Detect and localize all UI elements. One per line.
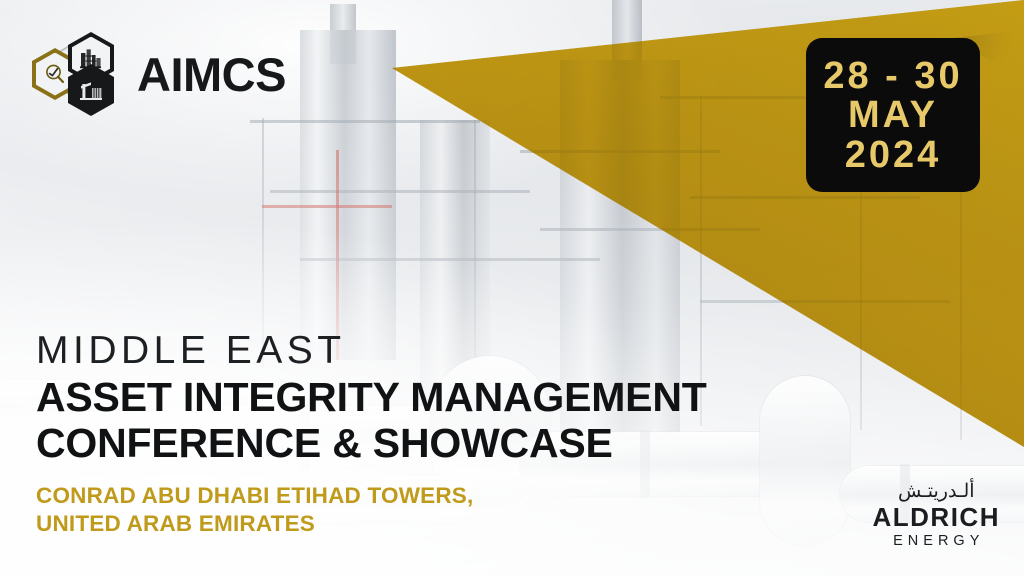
date-badge: 28 - 30 MAY 2024: [806, 38, 980, 192]
venue-line-2: UNITED ARAB EMIRATES: [36, 510, 707, 538]
headline-title-line-2: CONFERENCE & SHOWCASE: [36, 421, 707, 467]
date-year: 2024: [845, 136, 942, 176]
date-day-range: 28 - 30: [823, 57, 962, 97]
hexagon-icon-cluster: [32, 32, 124, 116]
aldrich-arabic-name: ألـدريتـش: [873, 482, 1001, 501]
date-month: MAY: [848, 96, 938, 136]
headline-block: MIDDLE EAST ASSET INTEGRITY MANAGEMENT C…: [36, 330, 707, 538]
headline-title-line-1: ASSET INTEGRITY MANAGEMENT: [36, 375, 707, 421]
aimcs-logo[interactable]: AIMCS: [32, 32, 286, 116]
headline-kicker: MIDDLE EAST: [36, 330, 707, 372]
aldrich-wordmark: ALDRICH: [873, 504, 1001, 530]
aldrich-tagline: ENERGY: [873, 534, 1001, 549]
conference-banner: AIMCS 28 - 30 MAY 2024 MIDDLE EAST ASSET…: [0, 0, 1024, 576]
hexagon-pumpjack-icon-face: [72, 69, 110, 112]
aldrich-energy-logo[interactable]: ألـدريتـش ALDRICH ENERGY: [873, 482, 1001, 549]
venue-line-1: CONRAD ABU DHABI ETIHAD TOWERS,: [36, 482, 707, 510]
aimcs-wordmark: AIMCS: [137, 51, 286, 98]
